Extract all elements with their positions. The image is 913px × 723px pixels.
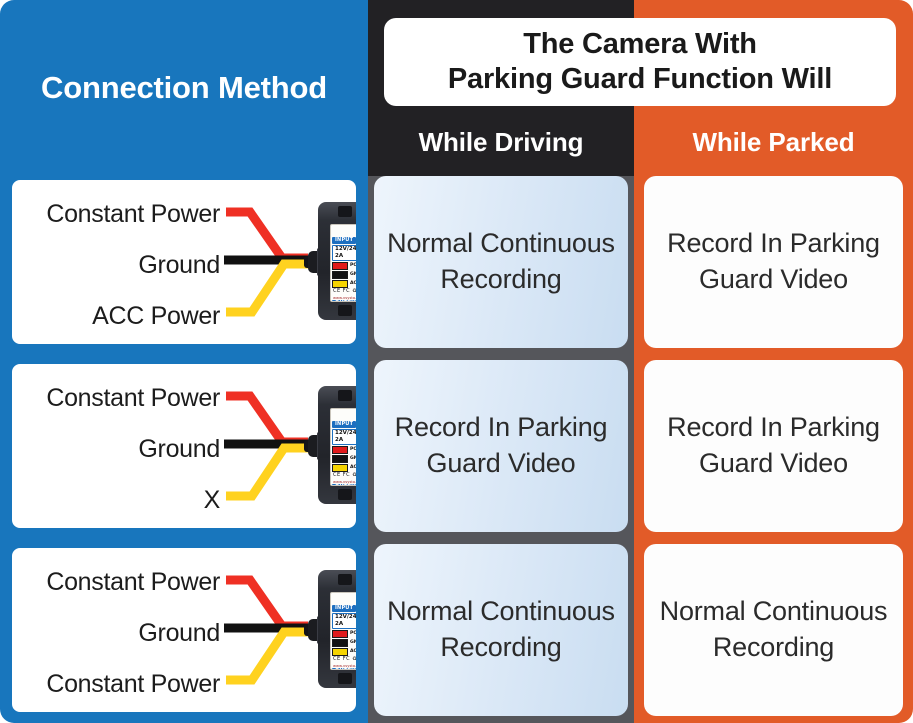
module-url: www.vsysto.com bbox=[333, 480, 360, 484]
module-vent-top bbox=[338, 574, 360, 585]
table-row: Constant Power Ground X bbox=[0, 360, 913, 532]
table-row: Constant Power Ground ACC Power bbox=[0, 176, 913, 348]
module-wire-name: GND bbox=[350, 640, 360, 646]
while-driving-value: Normal Continuous Recording bbox=[374, 226, 628, 298]
red-swatch-icon bbox=[332, 630, 348, 638]
module-vent-top bbox=[338, 206, 360, 217]
main-title-line-1: The Camera With bbox=[448, 27, 832, 62]
module-input-value: 12V/24V 2A bbox=[332, 613, 360, 629]
while-parked-cell: Record In Parking Guard Video bbox=[644, 176, 903, 348]
while-parked-value: Record In Parking Guard Video bbox=[644, 410, 903, 482]
module-vent-bottom bbox=[338, 673, 360, 684]
wiring-diagram: Constant Power Ground Constant Power bbox=[12, 548, 356, 712]
main-title: The Camera With Parking Guard Function W… bbox=[448, 27, 832, 98]
while-driving-cell: Record In Parking Guard Video bbox=[374, 360, 628, 532]
wire-label-acc-power: ACC Power bbox=[92, 304, 220, 329]
wire-label-constant-power: Constant Power bbox=[46, 386, 220, 411]
module-wire-name: POWER bbox=[350, 631, 360, 637]
module-wire-row: POWER bbox=[332, 630, 360, 638]
while-parked-header-label: While Parked bbox=[692, 127, 854, 158]
red-wire-icon bbox=[226, 580, 308, 626]
while-driving-value: Normal Continuous Recording bbox=[374, 594, 628, 666]
module-wire-row: GND bbox=[332, 455, 360, 463]
module-input-tag: INPUT bbox=[332, 605, 356, 612]
connection-diagram-cell: Constant Power Ground ACC Power bbox=[8, 176, 360, 348]
module-input-tag: INPUT bbox=[332, 237, 356, 244]
while-parked-value: Record In Parking Guard Video bbox=[644, 226, 903, 298]
module-url: www.vsysto.com bbox=[333, 296, 360, 300]
module-input-tag: INPUT bbox=[332, 421, 356, 428]
wiring-diagram: Constant Power Ground X bbox=[12, 364, 356, 528]
red-swatch-icon bbox=[332, 262, 348, 270]
red-wire-icon bbox=[226, 396, 308, 442]
module-spec-label: INPUT 12V/24V 2A POWER GND ACC OUTPUT 5V… bbox=[330, 408, 360, 486]
wire-label-constant-power: Constant Power bbox=[46, 202, 220, 227]
while-parked-value: Normal Continuous Recording bbox=[644, 594, 903, 666]
module-certification-marks: CE FC ♻ bbox=[333, 656, 357, 662]
module-url: www.vsysto.com bbox=[333, 664, 360, 668]
module-wire-row: GND bbox=[332, 271, 360, 279]
power-adapter-module-icon: INPUT 12V/24V 2A POWER GND ACC OUTPUT 5V… bbox=[304, 202, 360, 320]
yellow-wire-icon bbox=[226, 632, 308, 680]
module-wire-name: POWER bbox=[350, 447, 360, 453]
table-row: Constant Power Ground Constant Power bbox=[0, 544, 913, 716]
module-wire-row: GND bbox=[332, 639, 360, 647]
while-parked-cell: Record In Parking Guard Video bbox=[644, 360, 903, 532]
wire-label-group: Constant Power Ground Constant Power bbox=[12, 548, 220, 712]
while-driving-value: Record In Parking Guard Video bbox=[374, 410, 628, 482]
module-output-tag: OUTPUT bbox=[332, 300, 360, 302]
wire-label-group: Constant Power Ground ACC Power bbox=[12, 180, 220, 344]
while-driving-header-label: While Driving bbox=[419, 127, 584, 158]
wire-label-ground: Ground bbox=[138, 253, 220, 278]
comparison-table-infographic: Connection Method The Camera With Parkin… bbox=[0, 0, 913, 723]
module-wire-name: GND bbox=[350, 272, 360, 278]
yellow-wire-icon bbox=[226, 448, 308, 496]
module-input-value: 12V/24V 2A bbox=[332, 245, 360, 261]
module-wire-name: GND bbox=[350, 456, 360, 462]
yellow-swatch-icon bbox=[332, 464, 348, 472]
module-wire-name: ACC bbox=[350, 465, 360, 471]
module-wire-row: ACC bbox=[332, 280, 360, 288]
connection-method-header-label: Connection Method bbox=[41, 68, 327, 108]
module-output-tag: OUTPUT bbox=[332, 484, 360, 486]
module-vent-bottom bbox=[338, 489, 360, 500]
wire-label-group: Constant Power Ground X bbox=[12, 364, 220, 528]
connection-diagram-cell: Constant Power Ground Constant Power bbox=[8, 544, 360, 716]
module-wire-name: POWER bbox=[350, 263, 360, 269]
module-vent-top bbox=[338, 390, 360, 401]
wire-label-ground: Ground bbox=[138, 437, 220, 462]
yellow-swatch-icon bbox=[332, 648, 348, 656]
while-driving-cell: Normal Continuous Recording bbox=[374, 544, 628, 716]
power-adapter-module-icon: INPUT 12V/24V 2A POWER GND ACC OUTPUT 5V… bbox=[304, 570, 360, 688]
main-title-line-2: Parking Guard Function Will bbox=[448, 62, 832, 97]
module-wire-name: ACC bbox=[350, 649, 360, 655]
module-spec-label: INPUT 12V/24V 2A POWER GND ACC OUTPUT 5V… bbox=[330, 224, 360, 302]
wiring-diagram: Constant Power Ground ACC Power bbox=[12, 180, 356, 344]
module-input-value: 12V/24V 2A bbox=[332, 429, 360, 445]
connection-method-header: Connection Method bbox=[0, 0, 368, 176]
module-wire-row: POWER bbox=[332, 262, 360, 270]
red-wire-icon bbox=[226, 212, 308, 258]
yellow-wire-icon bbox=[226, 264, 308, 312]
module-wire-row: ACC bbox=[332, 464, 360, 472]
module-certification-marks: CE FC ♻ bbox=[333, 288, 357, 294]
while-parked-cell: Normal Continuous Recording bbox=[644, 544, 903, 716]
module-certification-marks: CE FC ♻ bbox=[333, 472, 357, 478]
module-vent-bottom bbox=[338, 305, 360, 316]
wire-label-constant-power-acc: Constant Power bbox=[46, 672, 220, 697]
while-parked-header: While Parked bbox=[634, 112, 913, 172]
black-swatch-icon bbox=[332, 271, 348, 279]
module-spec-label: INPUT 12V/24V 2A POWER GND ACC OUTPUT 5V… bbox=[330, 592, 360, 670]
wire-label-ground: Ground bbox=[138, 621, 220, 646]
black-swatch-icon bbox=[332, 639, 348, 647]
module-wire-row: ACC bbox=[332, 648, 360, 656]
wire-label-constant-power: Constant Power bbox=[46, 570, 220, 595]
while-driving-header: While Driving bbox=[368, 112, 634, 172]
main-title-box: The Camera With Parking Guard Function W… bbox=[384, 18, 896, 106]
connection-diagram-cell: Constant Power Ground X bbox=[8, 360, 360, 532]
black-swatch-icon bbox=[332, 455, 348, 463]
module-wire-row: POWER bbox=[332, 446, 360, 454]
module-output-tag: OUTPUT bbox=[332, 668, 360, 670]
yellow-swatch-icon bbox=[332, 280, 348, 288]
while-driving-cell: Normal Continuous Recording bbox=[374, 176, 628, 348]
module-wire-name: ACC bbox=[350, 281, 360, 287]
red-swatch-icon bbox=[332, 446, 348, 454]
power-adapter-module-icon: INPUT 12V/24V 2A POWER GND ACC OUTPUT 5V… bbox=[304, 386, 360, 504]
